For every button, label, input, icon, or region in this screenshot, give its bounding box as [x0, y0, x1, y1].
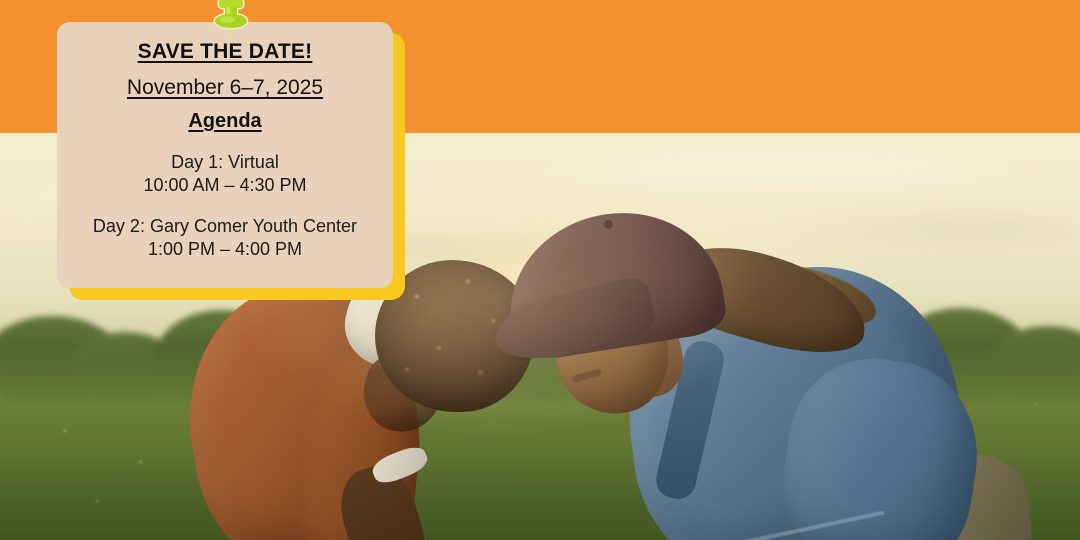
- agenda-day-2-time: 1:00 PM – 4:00 PM: [73, 238, 377, 261]
- agenda-day-1-time: 10:00 AM – 4:30 PM: [73, 174, 377, 197]
- agenda-day-1: Day 1: Virtual 10:00 AM – 4:30 PM: [73, 151, 377, 197]
- save-the-date-graphic: SAVE THE DATE! November 6–7, 2025 Agenda…: [0, 0, 1080, 540]
- agenda-day-1-label: Day 1: Virtual: [73, 151, 377, 174]
- person-right: [500, 210, 1060, 540]
- event-date: November 6–7, 2025: [73, 76, 377, 100]
- agenda-heading: Agenda: [73, 110, 377, 133]
- agenda-day-2-label: Day 2: Gary Comer Youth Center: [73, 215, 377, 238]
- save-the-date-card: SAVE THE DATE! November 6–7, 2025 Agenda…: [57, 22, 393, 288]
- pushpin-icon: [205, 0, 257, 40]
- card-title: SAVE THE DATE!: [73, 40, 377, 64]
- agenda-day-2: Day 2: Gary Comer Youth Center 1:00 PM –…: [73, 215, 377, 261]
